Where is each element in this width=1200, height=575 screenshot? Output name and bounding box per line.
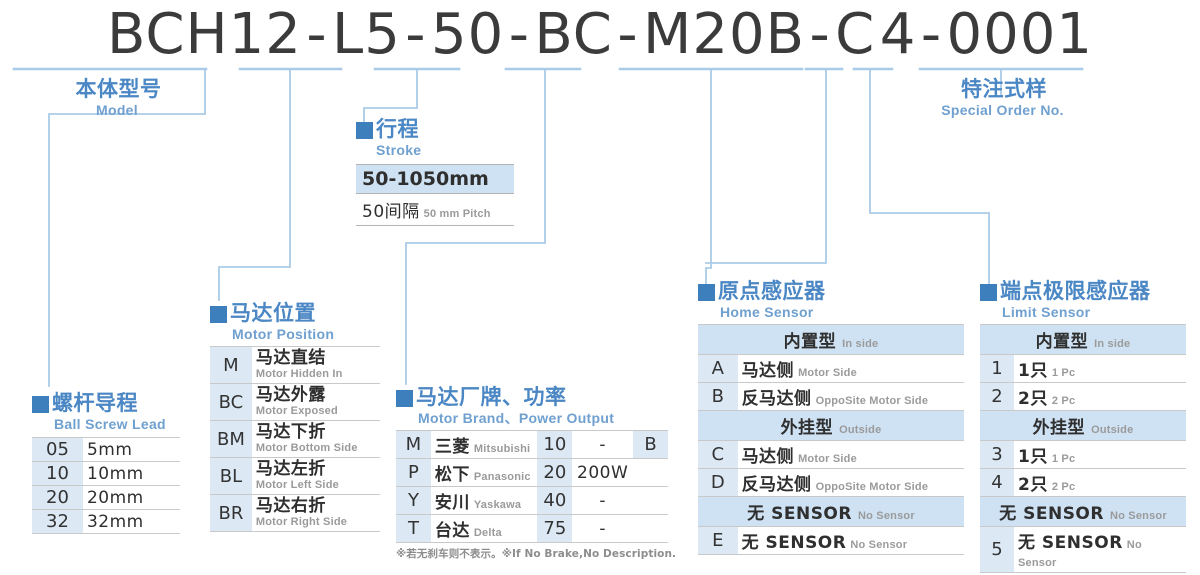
lead-code: 32	[46, 511, 69, 532]
motorpos-en: Motor Left Side	[256, 479, 376, 492]
homesensor-band-en: No Sensor	[858, 510, 915, 522]
motorpos-title-cn: 马达位置	[230, 302, 316, 324]
table-row: P松下Panasonic20200W	[396, 459, 668, 487]
stroke-table: 50-1050mm 50间隔50 mm Pitch	[356, 164, 514, 226]
table-row: 5无 SENSORNo Sensor	[980, 527, 1186, 573]
lead-code-cell: 05	[32, 438, 83, 462]
homesensor-desc-cell: 马达侧Motor Side	[738, 441, 964, 469]
model-title-row: 本体型号	[22, 78, 212, 100]
homesensor-en: Motor Side	[798, 367, 857, 379]
homesensor-en: OppoSite Motor Side	[816, 481, 929, 493]
section-band-row: 无 SENSORNo Sensor	[698, 497, 964, 527]
motorpos-desc-cell: 马达外露Motor Exposed	[252, 384, 380, 421]
motorpos-code: M	[223, 355, 239, 376]
bullet-square-icon	[396, 390, 413, 407]
homesensor-desc-cell: 马达侧Motor Side	[738, 355, 964, 383]
limitsensor-code: 2	[991, 386, 1002, 407]
lead-code-cell: 10	[32, 462, 83, 486]
limitsensor-code: 5	[991, 539, 1002, 560]
section-band-row: 内置型In side	[980, 325, 1186, 355]
bullet-square-icon	[210, 306, 227, 323]
limitsensor-cn: 1只	[1018, 361, 1048, 381]
table-row: BR马达右折Motor Right Side	[210, 495, 380, 532]
limitsensor-band: 无 SENSORNo Sensor	[980, 497, 1186, 527]
motor-brand-footnote: ※若无刹车则不表示。※If No Brake,No Description.	[396, 546, 676, 561]
homesensor-en: No Sensor	[850, 539, 907, 551]
motor-brand-table: M三菱Mitsubishi10-BP松下Panasonic20200WY安川Ya…	[396, 430, 668, 543]
model-title-en: Model	[22, 102, 212, 118]
motorbrand-code-cell: P	[396, 459, 431, 487]
motorpos-desc-cell: 马达直结Motor Hidden In	[252, 347, 380, 384]
limitsensor-en: 1 Pc	[1052, 453, 1075, 465]
motorbrand-brake-cell	[633, 515, 668, 543]
motorbrand-power-cell: -	[572, 431, 633, 459]
section-band-row: 外挂型Outside	[980, 411, 1186, 441]
table-row: T台达Delta75-	[396, 515, 668, 543]
homesensor-code: A	[712, 358, 724, 379]
table-row: BM马达下折Motor Bottom Side	[210, 421, 380, 458]
motorbrand-code: M	[406, 434, 422, 455]
motorbrand-cn: 台达	[435, 521, 470, 541]
lead-code: 10	[46, 463, 69, 484]
motorpos-cn: 马达右折	[256, 497, 376, 516]
model-title-cn: 本体型号	[76, 78, 162, 100]
bullet-square-icon	[698, 284, 715, 301]
homesensor-band: 内置型In side	[698, 325, 964, 355]
stroke-pitch-en: 50 mm Pitch	[424, 208, 491, 220]
motorbrand-code-cell: M	[396, 431, 431, 459]
motorbrand-en: Yaskawa	[474, 499, 521, 511]
section-band-row: 内置型In side	[698, 325, 964, 355]
motorbrand-powercode: 40	[543, 490, 566, 511]
limitsensor-band-cn: 内置型	[1036, 332, 1089, 352]
table-row: M三菱Mitsubishi10-B	[396, 431, 668, 459]
bullet-square-icon	[980, 284, 997, 301]
motorpos-cn: 马达下折	[256, 423, 376, 442]
homesensor-band-cn: 无 SENSOR	[747, 504, 852, 524]
limitsensor-code: 3	[991, 444, 1002, 465]
homesensor-code-cell: A	[698, 355, 738, 383]
group-motor-position: 马达位置 Motor Position M马达直结Motor Hidden In…	[210, 302, 380, 532]
motorbrand-powercode: 20	[543, 462, 566, 483]
homesensor-cn: 反马达侧	[742, 389, 812, 409]
lead-value-cell: 20mm	[83, 486, 180, 510]
table-row: D反马达侧OppoSite Motor Side	[698, 469, 964, 497]
motorpos-en: Motor Right Side	[256, 516, 376, 529]
motorbrand-brake-cell: B	[633, 431, 668, 459]
limitsensor-band-cn: 无 SENSOR	[999, 504, 1104, 524]
motorbrand-brake: B	[644, 434, 656, 455]
homesensor-cn: 马达侧	[742, 447, 795, 467]
limitsensor-code-cell: 4	[980, 469, 1014, 497]
limitsensor-band: 外挂型Outside	[980, 411, 1186, 441]
limitsensor-en: 2 Pc	[1052, 481, 1075, 493]
lead-code: 05	[46, 439, 69, 460]
part-number-diagram: BCH12 - L5 - 50 - BC - M20B - C 4 - 0001	[0, 0, 1200, 575]
motorbrand-powercode: 75	[543, 518, 566, 539]
group-model: 本体型号 Model	[22, 78, 212, 118]
limitsensor-title-row: 端点极限感应器	[980, 280, 1186, 302]
motorpos-code: BC	[219, 392, 244, 413]
home-sensor-table: 内置型In sideA马达侧Motor SideB反马达侧OppoSite Mo…	[698, 324, 964, 555]
homesensor-code-cell: E	[698, 527, 738, 555]
limitsensor-cn: 2只	[1018, 389, 1048, 409]
lead-code-cell: 32	[32, 510, 83, 534]
motorbrand-en: Panasonic	[474, 471, 531, 483]
table-row: 42只2 Pc	[980, 469, 1186, 497]
limitsensor-desc-cell: 无 SENSORNo Sensor	[1014, 527, 1186, 573]
lead-value: 32mm	[87, 512, 144, 532]
homesensor-title-en: Home Sensor	[720, 304, 964, 320]
motorpos-code: BR	[219, 503, 244, 524]
limitsensor-en: 2 Pc	[1052, 395, 1075, 407]
motorpos-en: Motor Hidden In	[256, 368, 376, 381]
lead-value: 10mm	[87, 464, 144, 484]
stroke-range-value: 50-1050mm	[362, 168, 489, 190]
group-stroke: 行程 Stroke 50-1050mm 50间隔50 mm Pitch	[356, 118, 514, 226]
motorbrand-title-cn: 马达厂牌、功率	[416, 386, 567, 408]
motorbrand-powercode-cell: 20	[537, 459, 572, 487]
special-title-cn: 特注式样	[961, 78, 1047, 100]
motorbrand-power: 200W	[576, 463, 629, 483]
lead-value-cell: 5mm	[83, 438, 180, 462]
motorbrand-power-cell: 200W	[572, 459, 633, 487]
section-band-row: 无 SENSORNo Sensor	[980, 497, 1186, 527]
homesensor-title-cn: 原点感应器	[718, 280, 826, 302]
limitsensor-title-cn: 端点极限感应器	[1000, 280, 1151, 302]
lead-value: 20mm	[87, 488, 144, 508]
limitsensor-cn: 无 SENSOR	[1018, 533, 1123, 553]
lead-title-cn: 螺杆导程	[52, 392, 138, 414]
homesensor-desc-cell: 反马达侧OppoSite Motor Side	[738, 469, 964, 497]
motorbrand-en: Delta	[474, 527, 502, 539]
table-row: M马达直结Motor Hidden In	[210, 347, 380, 384]
motorbrand-powercode-cell: 10	[537, 431, 572, 459]
motorbrand-code: Y	[408, 490, 419, 511]
table-row: 31只1 Pc	[980, 441, 1186, 469]
motorbrand-power: -	[576, 435, 629, 455]
stroke-range-row: 50-1050mm	[356, 165, 514, 194]
limitsensor-desc-cell: 1只1 Pc	[1014, 355, 1186, 383]
stroke-pitch-row: 50间隔50 mm Pitch	[356, 194, 514, 225]
limitsensor-code: 1	[991, 358, 1002, 379]
homesensor-code: B	[712, 386, 724, 407]
motorpos-desc-cell: 马达下折Motor Bottom Side	[252, 421, 380, 458]
limitsensor-band-en: Outside	[1091, 424, 1133, 436]
limitsensor-desc-cell: 2只2 Pc	[1014, 469, 1186, 497]
stroke-title-cn: 行程	[376, 118, 419, 140]
motorpos-cn: 马达外露	[256, 386, 376, 405]
homesensor-code: E	[712, 530, 723, 551]
homesensor-band-cn: 外挂型	[781, 418, 834, 438]
limitsensor-cn: 1只	[1018, 447, 1048, 467]
motorpos-code: BL	[220, 466, 242, 487]
lead-title-row: 螺杆导程	[32, 392, 180, 414]
group-limit-sensor: 端点极限感应器 Limit Sensor 内置型In side11只1 Pc22…	[980, 280, 1186, 573]
lead-code-cell: 20	[32, 486, 83, 510]
motor-position-table: M马达直结Motor Hidden InBC马达外露Motor ExposedB…	[210, 346, 380, 532]
motorbrand-code-cell: Y	[396, 487, 431, 515]
motorpos-code-cell: BR	[210, 495, 252, 532]
table-row: A马达侧Motor Side	[698, 355, 964, 383]
motorbrand-power: -	[576, 491, 629, 511]
limitsensor-desc-cell: 2只2 Pc	[1014, 383, 1186, 411]
motorbrand-en: Mitsubishi	[474, 443, 530, 455]
motorbrand-power: -	[576, 519, 629, 539]
motorbrand-code-cell: T	[396, 515, 431, 543]
motorpos-cn: 马达直结	[256, 349, 376, 368]
homesensor-band-cn: 内置型	[784, 332, 837, 352]
homesensor-band-en: Outside	[839, 424, 881, 436]
motorbrand-cn: 安川	[435, 493, 470, 513]
table-row: B反马达侧OppoSite Motor Side	[698, 383, 964, 411]
motorbrand-name-cell: 松下Panasonic	[431, 459, 538, 487]
homesensor-band-en: In side	[842, 338, 878, 350]
motorpos-en: Motor Exposed	[256, 405, 376, 418]
limitsensor-desc-cell: 1只1 Pc	[1014, 441, 1186, 469]
table-row: 1010mm	[32, 462, 180, 486]
homesensor-code: C	[711, 444, 724, 465]
limitsensor-code-cell: 3	[980, 441, 1014, 469]
motorbrand-name-cell: 台达Delta	[431, 515, 538, 543]
motorbrand-power-cell: -	[572, 515, 633, 543]
motorpos-code-cell: M	[210, 347, 252, 384]
homesensor-en: Motor Side	[798, 453, 857, 465]
limitsensor-band-en: No Sensor	[1110, 510, 1167, 522]
motorpos-cn: 马达左折	[256, 460, 376, 479]
table-row: BC马达外露Motor Exposed	[210, 384, 380, 421]
motorpos-title-en: Motor Position	[232, 326, 380, 342]
motorbrand-powercode: 10	[543, 434, 566, 455]
motorpos-code-cell: BC	[210, 384, 252, 421]
motorpos-code: BM	[217, 429, 245, 450]
limitsensor-band-cn: 外挂型	[1033, 418, 1086, 438]
table-row: 22只2 Pc	[980, 383, 1186, 411]
motorbrand-powercode-cell: 75	[537, 515, 572, 543]
lead-table: 055mm1010mm2020mm3232mm	[32, 437, 180, 534]
homesensor-cn: 反马达侧	[742, 475, 812, 495]
motorbrand-code: P	[408, 462, 419, 483]
table-row: Y安川Yaskawa40-	[396, 487, 668, 515]
homesensor-desc-cell: 无 SENSORNo Sensor	[738, 527, 964, 555]
motorpos-code-cell: BL	[210, 458, 252, 495]
limitsensor-en: 1 Pc	[1052, 367, 1075, 379]
motorbrand-powercode-cell: 40	[537, 487, 572, 515]
homesensor-band: 无 SENSORNo Sensor	[698, 497, 964, 527]
table-row: 055mm	[32, 438, 180, 462]
motorpos-desc-cell: 马达右折Motor Right Side	[252, 495, 380, 532]
lead-value-cell: 32mm	[83, 510, 180, 534]
homesensor-code-cell: B	[698, 383, 738, 411]
table-row: 2020mm	[32, 486, 180, 510]
homesensor-en: OppoSite Motor Side	[816, 395, 929, 407]
motorpos-en: Motor Bottom Side	[256, 442, 376, 455]
motorbrand-name-cell: 三菱Mitsubishi	[431, 431, 538, 459]
table-row: BL马达左折Motor Left Side	[210, 458, 380, 495]
motorbrand-cn: 三菱	[435, 437, 470, 457]
limitsensor-cn: 2只	[1018, 475, 1048, 495]
homesensor-code-cell: C	[698, 441, 738, 469]
section-band-row: 外挂型Outside	[698, 411, 964, 441]
table-row: 3232mm	[32, 510, 180, 534]
limit-sensor-table: 内置型In side11只1 Pc22只2 Pc外挂型Outside31只1 P…	[980, 324, 1186, 573]
group-home-sensor: 原点感应器 Home Sensor 内置型In sideA马达侧Motor Si…	[698, 280, 964, 555]
motorbrand-title-row: 马达厂牌、功率	[396, 386, 676, 408]
homesensor-cn: 马达侧	[742, 361, 795, 381]
motorbrand-cn: 松下	[435, 465, 470, 485]
motorbrand-title-en: Motor Brand、Power Output	[418, 410, 676, 426]
limitsensor-title-en: Limit Sensor	[1002, 304, 1186, 320]
special-title-en: Special Order No.	[905, 102, 1100, 118]
homesensor-cn: 无 SENSOR	[742, 533, 847, 553]
lead-value: 5mm	[87, 440, 132, 460]
motorbrand-name-cell: 安川Yaskawa	[431, 487, 538, 515]
limitsensor-band: 内置型In side	[980, 325, 1186, 355]
motorbrand-brake-cell	[633, 459, 668, 487]
motorpos-code-cell: BM	[210, 421, 252, 458]
table-row: C马达侧Motor Side	[698, 441, 964, 469]
special-title-row: 特注式样	[905, 78, 1100, 100]
table-row: 11只1 Pc	[980, 355, 1186, 383]
group-ball-screw-lead: 螺杆导程 Ball Screw Lead 055mm1010mm2020mm32…	[32, 392, 180, 534]
bullet-square-icon	[32, 396, 49, 413]
limitsensor-code-cell: 1	[980, 355, 1014, 383]
stroke-title-row: 行程	[356, 118, 514, 140]
homesensor-title-row: 原点感应器	[698, 280, 964, 302]
lead-value-cell: 10mm	[83, 462, 180, 486]
stroke-title-en: Stroke	[376, 142, 514, 158]
table-row: E无 SENSORNo Sensor	[698, 527, 964, 555]
group-motor-brand: 马达厂牌、功率 Motor Brand、Power Output M三菱Mits…	[396, 386, 676, 561]
motorbrand-power-cell: -	[572, 487, 633, 515]
homesensor-code-cell: D	[698, 469, 738, 497]
limitsensor-code: 4	[991, 472, 1002, 493]
group-special-order: 特注式样 Special Order No.	[905, 78, 1100, 118]
lead-code: 20	[46, 487, 69, 508]
homesensor-band: 外挂型Outside	[698, 411, 964, 441]
limitsensor-code-cell: 5	[980, 527, 1014, 573]
stroke-pitch-cn: 50间隔	[362, 202, 420, 222]
motorpos-desc-cell: 马达左折Motor Left Side	[252, 458, 380, 495]
bullet-square-icon	[356, 122, 373, 139]
homesensor-desc-cell: 反马达侧OppoSite Motor Side	[738, 383, 964, 411]
lead-title-en: Ball Screw Lead	[54, 416, 180, 432]
homesensor-code: D	[711, 472, 725, 493]
motorbrand-brake-cell	[633, 487, 668, 515]
limitsensor-band-en: In side	[1094, 338, 1130, 350]
motorbrand-code: T	[408, 518, 419, 539]
motorpos-title-row: 马达位置	[210, 302, 380, 324]
limitsensor-code-cell: 2	[980, 383, 1014, 411]
